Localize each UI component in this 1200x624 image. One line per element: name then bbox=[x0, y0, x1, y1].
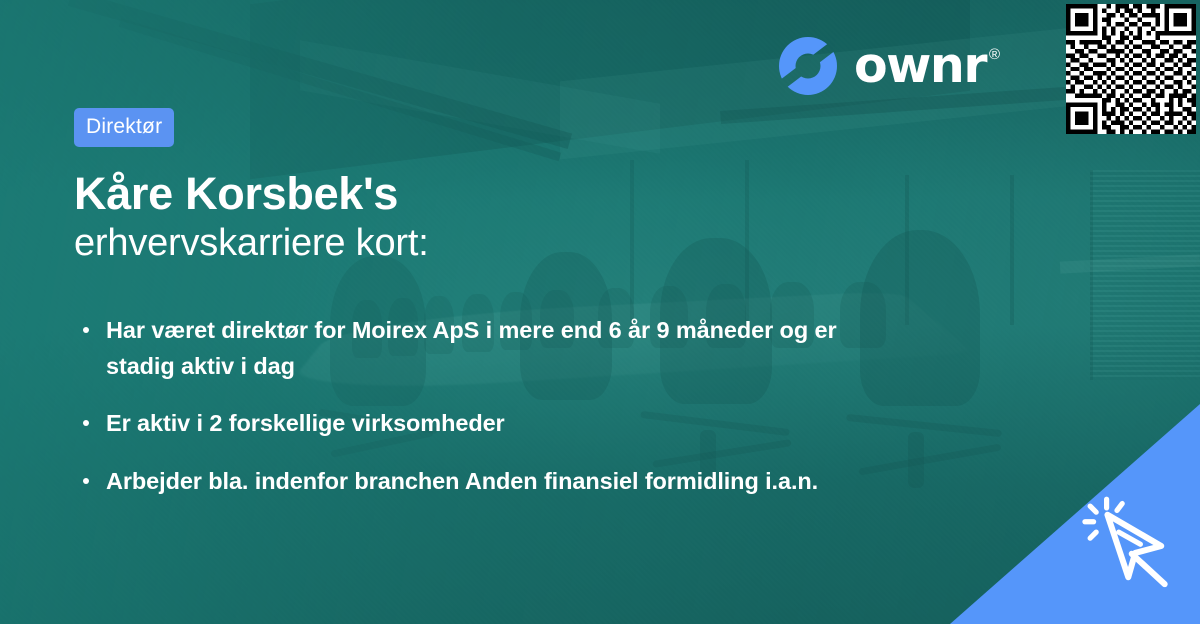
role-badge: Direktør bbox=[74, 108, 174, 147]
qr-code[interactable] bbox=[1066, 4, 1196, 134]
career-facts-list: Har været direktør for Moirex ApS i mere… bbox=[78, 313, 908, 500]
bullet-dot-icon bbox=[83, 420, 89, 426]
teal-overlay bbox=[0, 0, 1200, 624]
career-fact-item: Har været direktør for Moirex ApS i mere… bbox=[78, 313, 908, 384]
ownr-circle-swoosh-icon bbox=[778, 36, 838, 96]
page-title: Kåre Korsbek's erhvervskarriere kort: bbox=[74, 169, 904, 266]
ownr-wordmark: ownr bbox=[854, 43, 986, 90]
ownr-wordmark-group: ownr ® bbox=[854, 43, 1000, 90]
career-fact-text: Har været direktør for Moirex ApS i mere… bbox=[106, 317, 837, 379]
headline-block: Direktør Kåre Korsbek's erhvervskarriere… bbox=[74, 108, 904, 266]
qr-code-canvas bbox=[1066, 4, 1196, 134]
business-career-card: ownr ® Direktør Kåre Korsbek's erhvervsk… bbox=[0, 0, 1200, 624]
ownr-logo[interactable]: ownr ® bbox=[778, 36, 1000, 96]
career-fact-item: Arbejder bla. indenfor branchen Anden fi… bbox=[78, 464, 908, 500]
bullet-dot-icon bbox=[83, 478, 89, 484]
career-fact-text: Arbejder bla. indenfor branchen Anden fi… bbox=[106, 468, 818, 494]
career-fact-text: Er aktiv i 2 forskellige virksomheder bbox=[106, 410, 505, 436]
registered-trademark-symbol: ® bbox=[989, 47, 1000, 62]
bullet-dot-icon bbox=[83, 327, 89, 333]
page-title-line2: erhvervskarriere kort: bbox=[74, 221, 904, 266]
career-fact-item: Er aktiv i 2 forskellige virksomheder bbox=[78, 406, 908, 442]
click-cursor-icon bbox=[1078, 494, 1182, 598]
page-title-line1: Kåre Korsbek's bbox=[74, 169, 904, 219]
